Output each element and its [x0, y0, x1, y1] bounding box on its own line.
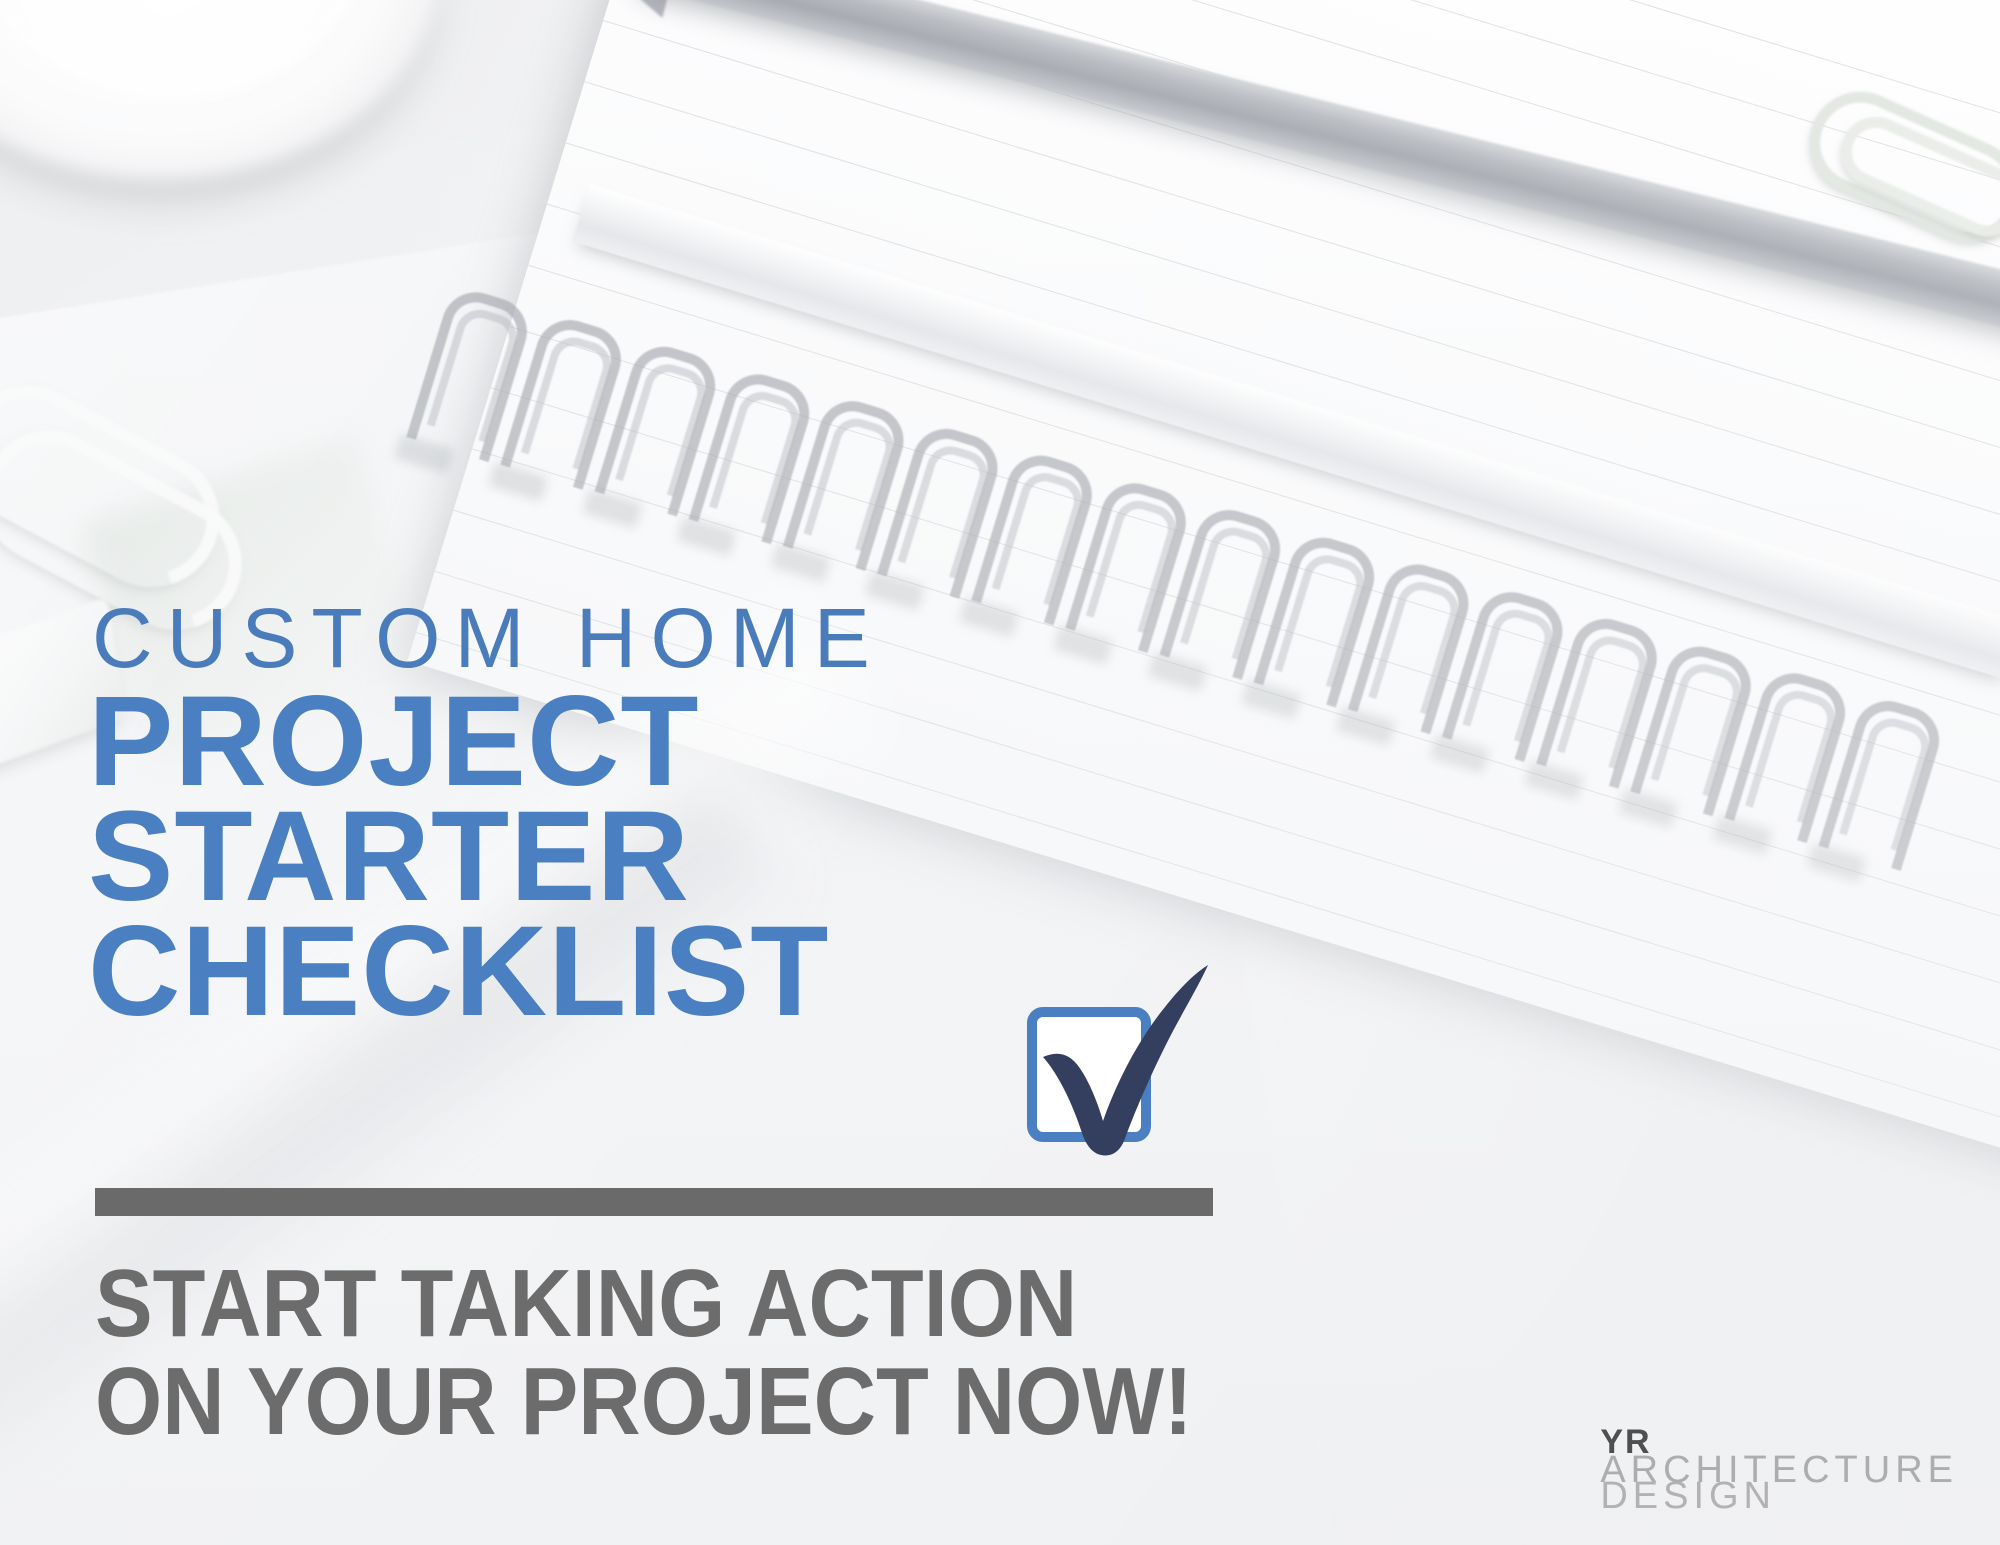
kicker-text: CUSTOM HOME — [92, 596, 884, 680]
tagline-line-1: START TAKING ACTION — [95, 1255, 1193, 1353]
poster-canvas: CUSTOM HOME PROJECT STARTER CHECKLIST ST… — [0, 0, 2000, 1545]
tagline-line-2: ON YOUR PROJECT NOW! — [95, 1353, 1193, 1451]
brand-logo: YR ARCHITECTURE DESIGN — [1600, 1428, 1958, 1513]
poster-content: CUSTOM HOME PROJECT STARTER CHECKLIST ST… — [0, 0, 2000, 1545]
headline-line-2: STARTER — [88, 799, 829, 914]
check-mark-icon — [1005, 955, 1235, 1170]
checked-checkbox-icon — [1005, 955, 1235, 1170]
divider-bar — [95, 1188, 1213, 1216]
headline-line-3: CHECKLIST — [88, 914, 829, 1029]
tagline: START TAKING ACTION ON YOUR PROJECT NOW! — [95, 1255, 1193, 1451]
headline-line-1: PROJECT — [88, 684, 829, 799]
headline: PROJECT STARTER CHECKLIST — [88, 684, 829, 1030]
